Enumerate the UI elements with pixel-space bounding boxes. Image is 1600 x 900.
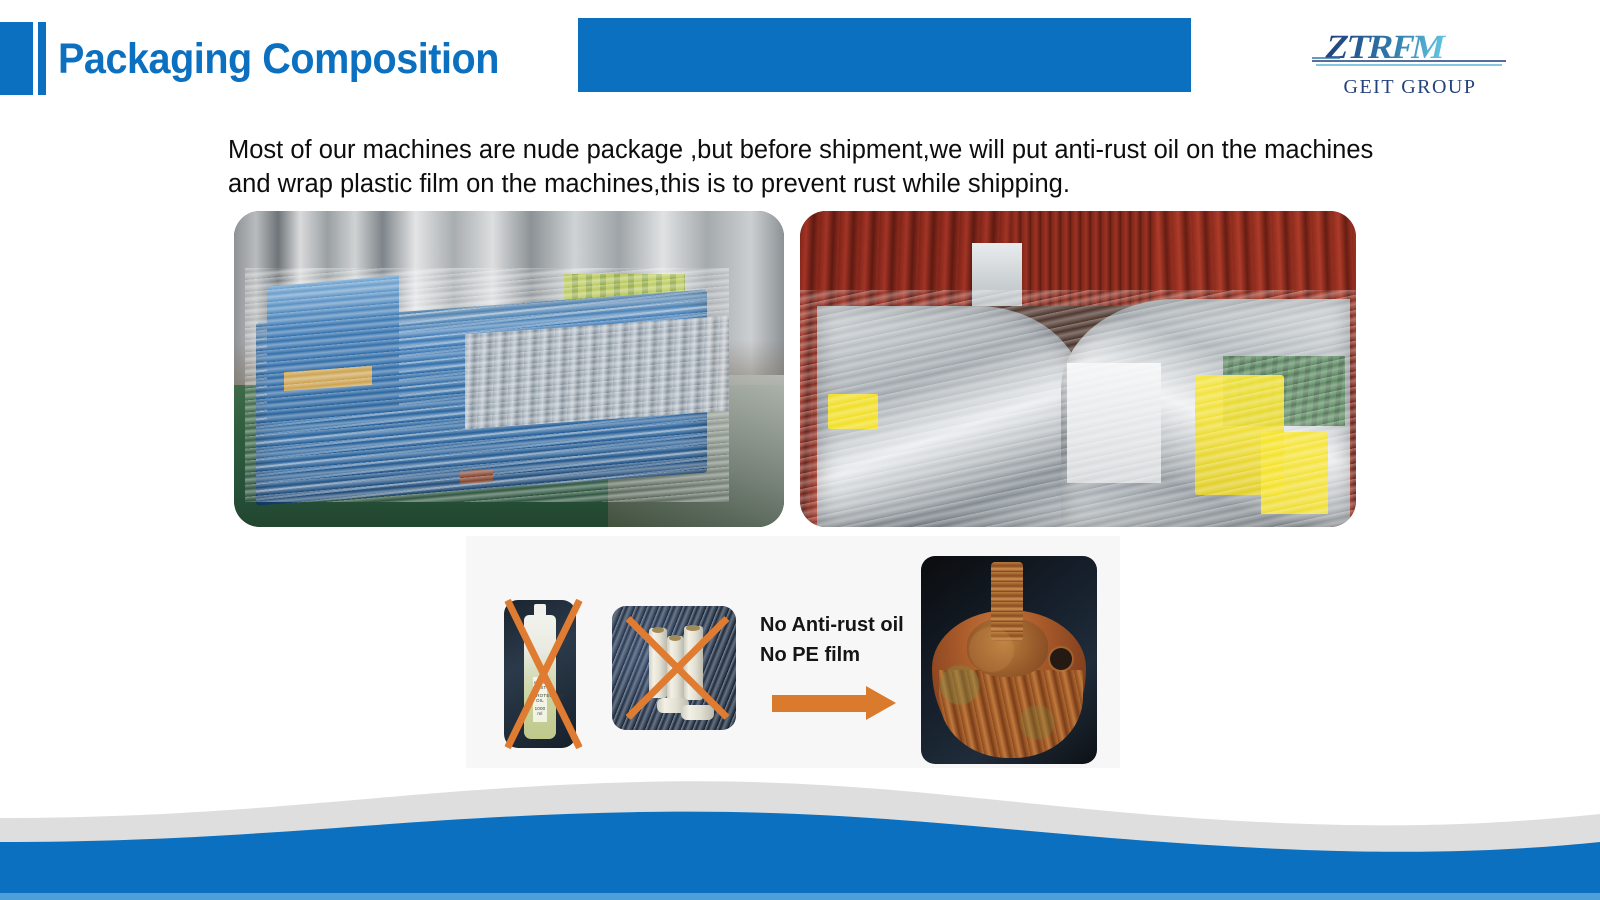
header-accent-bar-wide [0, 22, 33, 95]
container-back-wall [1011, 211, 1156, 318]
anti-rust-oil-bottle-image: ANTI-RUST PROTECTIVE OIL 1000 ml [504, 600, 576, 748]
arrow-shaft [772, 695, 868, 712]
machine-head-blue [267, 275, 399, 419]
film-roll [684, 626, 703, 700]
header-accent-bar-thin [38, 22, 46, 95]
bottle-body: ANTI-RUST PROTECTIVE OIL 1000 ml [524, 615, 556, 739]
footer-wave [0, 770, 1600, 900]
slide-root: Packaging Composition ZTRFM GEIT GROUP [0, 0, 1600, 900]
film-roll-core [669, 635, 681, 641]
bottle-label: ANTI-RUST PROTECTIVE OIL 1000 ml [533, 677, 547, 722]
film-roll [681, 705, 713, 720]
bottle-label-line1: ANTI-RUST [533, 680, 547, 690]
yellow-part-a [828, 394, 878, 429]
yellow-part-c [1261, 432, 1328, 514]
gear-rust-texture [921, 556, 1097, 764]
bottle-label-line3: 1000 ml [533, 706, 547, 716]
arrow-head [866, 686, 896, 720]
right-arrow-icon [772, 686, 898, 720]
rusty-gear-image [921, 556, 1097, 764]
film-roll [649, 628, 666, 697]
white-control-cabinet [1067, 363, 1162, 483]
logo-subtitle: GEIT GROUP [1310, 76, 1510, 99]
brand-logo: ZTRFM GEIT GROUP [1310, 28, 1510, 104]
film-roll-core [686, 625, 700, 631]
container-light-fixture [972, 243, 1022, 306]
film-roll [667, 636, 684, 703]
machine-roller-section [465, 316, 729, 429]
bottle-label-line2: PROTECTIVE OIL [533, 693, 547, 703]
photo-container-loading [800, 211, 1356, 527]
photo-factory-wrapped-machine [234, 211, 784, 527]
footer-bottom-strip [0, 893, 1600, 900]
pe-film-rolls-image [612, 606, 736, 730]
header-blue-block [578, 18, 1191, 92]
page-title: Packaging Composition [58, 28, 499, 90]
body-paragraph: Most of our machines are nude package ,b… [228, 133, 1388, 201]
wooden-block [460, 469, 493, 484]
logo-mark-ztrfm: ZTRFM [1310, 28, 1510, 74]
